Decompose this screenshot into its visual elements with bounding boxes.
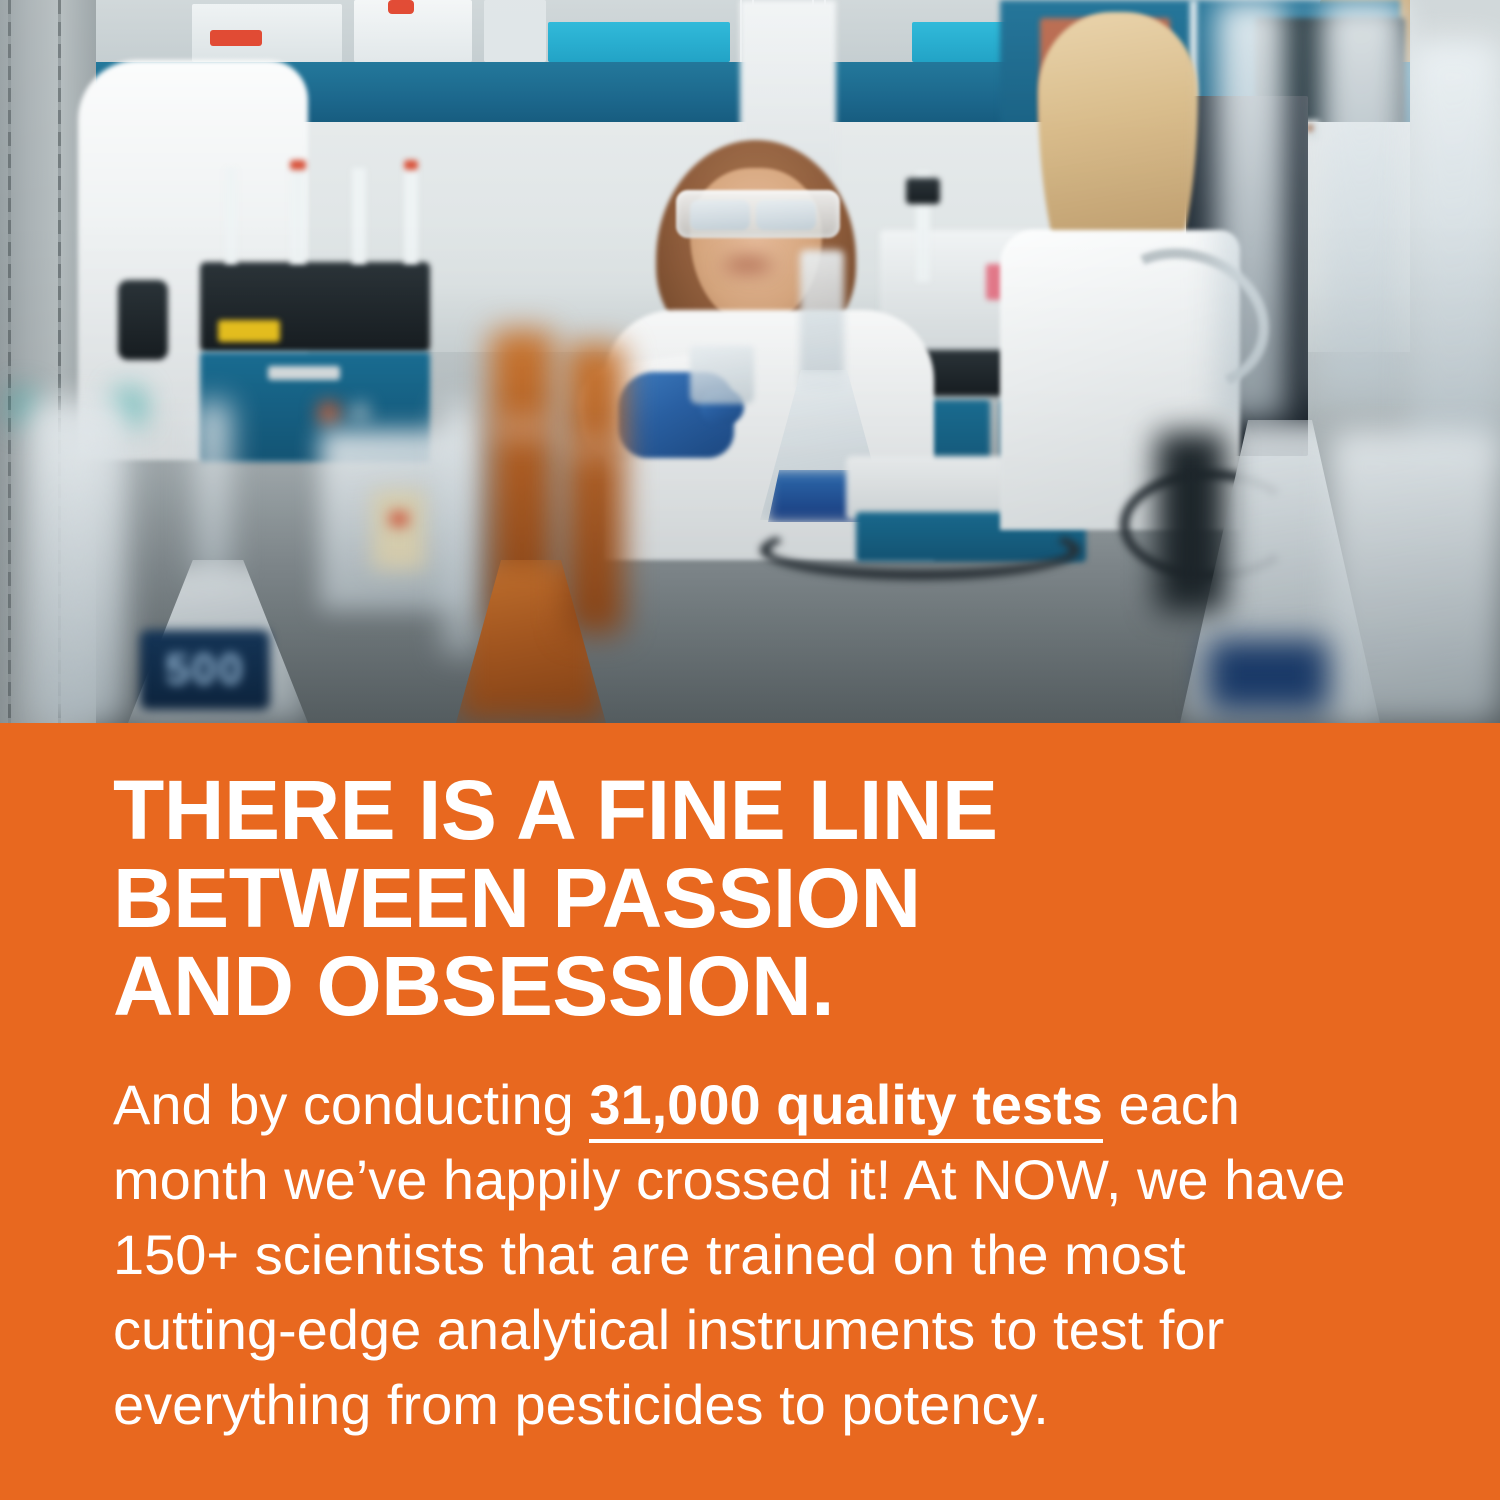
- orange-content-panel: THERE IS A FINE LINE BETWEEN PASSION AND…: [0, 723, 1500, 1500]
- page-headline: THERE IS A FINE LINE BETWEEN PASSION AND…: [113, 766, 1403, 1030]
- photo-vignette: [0, 0, 1500, 723]
- lab-hero-image: 500: [0, 0, 1500, 723]
- marketing-poster: 500 THERE IS A FINE LINE BETWEEN PASSION…: [0, 0, 1500, 1500]
- body-text-before: And by conducting: [113, 1073, 589, 1136]
- quality-tests-highlight: 31,000 quality tests: [589, 1073, 1103, 1143]
- body-paragraph: And by conducting 31,000 quality tests e…: [113, 1067, 1383, 1442]
